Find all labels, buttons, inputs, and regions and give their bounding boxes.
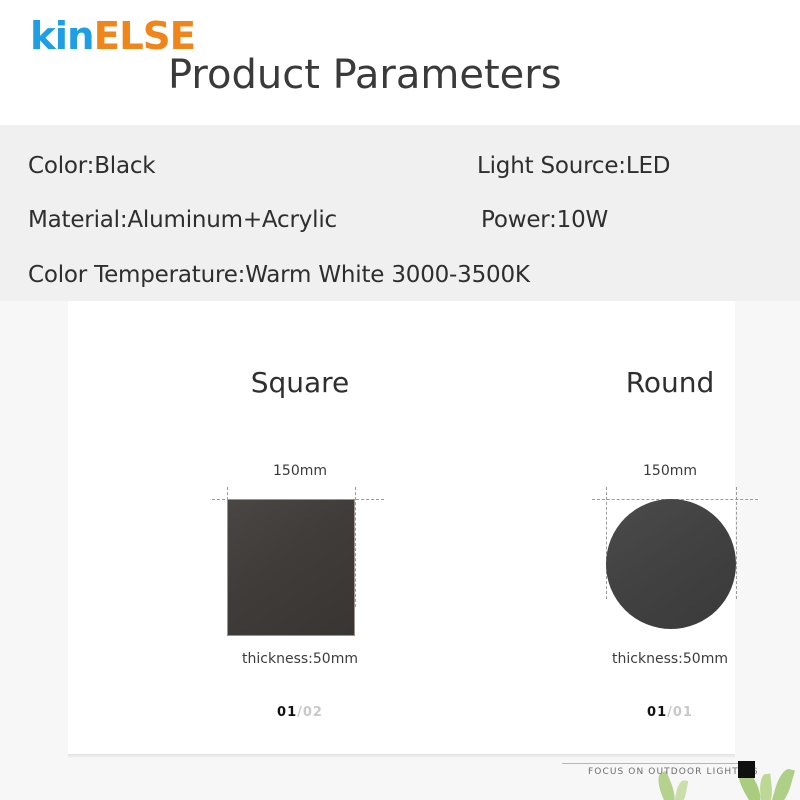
- footer-tagline: FOCUS ON OUTDOOR LIGHTING: [588, 767, 759, 777]
- product-parameters-page: kinELSE Product Parameters Color:Black M…: [0, 0, 800, 800]
- spec-power: Power:10W: [481, 207, 608, 233]
- foliage-leaf-icon: [674, 779, 688, 800]
- page-marker-round: 01/01: [510, 705, 800, 720]
- guide-vertical-left-round: [606, 487, 607, 599]
- specifications-band: Color:Black Material:Aluminum+Acrylic Co…: [0, 125, 800, 301]
- guide-vertical-right-square: [355, 487, 356, 607]
- thickness-label-square: thickness:50mm: [140, 651, 460, 667]
- footer-divider: [562, 763, 740, 764]
- product-content-card: Square 150mm thickness:50mm 01/02 Round …: [68, 301, 735, 756]
- foliage-leaf-icon: [758, 773, 773, 800]
- footer-square-mark-icon: [738, 761, 755, 778]
- dimension-label-square: 150mm: [140, 463, 460, 479]
- page-current-round: 01: [647, 705, 667, 720]
- brand-logo-first: kin: [30, 14, 94, 58]
- spec-color-temperature: Color Temperature:Warm White 3000-3500K: [28, 262, 530, 288]
- product-column-round: Round 150mm thickness:50mm 01/01: [510, 301, 800, 756]
- spec-color: Color:Black: [28, 153, 155, 179]
- product-title-square: Square: [140, 366, 460, 399]
- thickness-label-round: thickness:50mm: [510, 651, 800, 667]
- product-shape-round: [606, 499, 736, 629]
- dimension-label-round: 150mm: [510, 463, 800, 479]
- brand-logo: kinELSE: [30, 17, 195, 55]
- page-title: Product Parameters: [168, 53, 562, 97]
- spec-material: Material:Aluminum+Acrylic: [28, 207, 337, 233]
- foliage-leaf-icon: [771, 767, 795, 800]
- page-total-round: /01: [667, 705, 693, 720]
- page-current-square: 01: [277, 705, 297, 720]
- product-showcase-area: Square 150mm thickness:50mm 01/02 Round …: [0, 301, 800, 800]
- page-total-square: /02: [297, 705, 323, 720]
- product-column-square: Square 150mm thickness:50mm 01/02: [140, 301, 460, 756]
- page-header: kinELSE Product Parameters: [0, 0, 800, 125]
- page-footer: FOCUS ON OUTDOOR LIGHTING: [0, 745, 800, 800]
- product-title-round: Round: [510, 366, 800, 399]
- page-marker-square: 01/02: [140, 705, 460, 720]
- guide-vertical-right-round: [736, 487, 737, 599]
- spec-light-source: Light Source:LED: [477, 153, 670, 179]
- product-shape-square: [227, 499, 355, 636]
